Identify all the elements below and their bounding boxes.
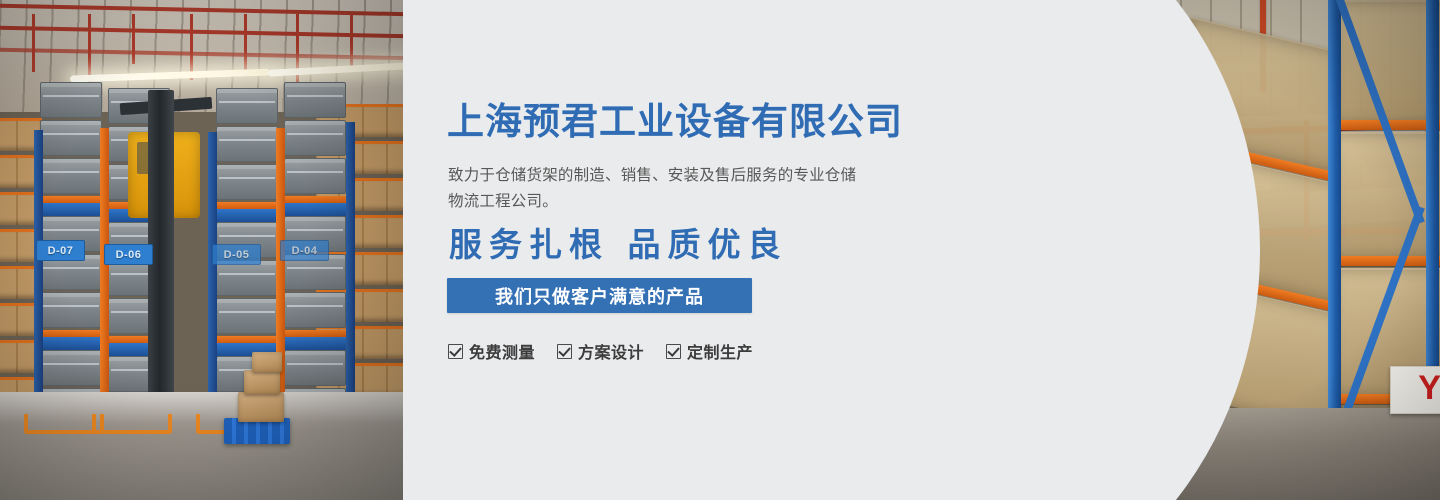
hero-banner: D-07 D-06 D-05 D-04 上海预君工业设备有限公司 致力于仓储货架… bbox=[0, 0, 1440, 500]
company-subtitle: 致力于仓储货架的制造、销售、安装及售后服务的专业仓储物流工程公司。 bbox=[448, 163, 866, 214]
cardboard-carton bbox=[252, 352, 282, 372]
ceiling-hanger bbox=[88, 14, 91, 84]
cta-button[interactable]: 我们只做客户满意的产品 bbox=[447, 278, 752, 313]
rack-label: D-04 bbox=[280, 240, 329, 261]
feature-label: 免费测量 bbox=[469, 339, 535, 363]
checkbox-checked-icon bbox=[448, 344, 463, 359]
ceiling-hanger bbox=[350, 14, 353, 68]
cardboard-carton bbox=[238, 392, 284, 422]
feature-item: 定制生产 bbox=[666, 339, 753, 363]
slogan: 服务扎根 品质优良 bbox=[449, 228, 788, 261]
feature-list: 免费测量 方案设计 定制生产 bbox=[448, 339, 753, 363]
rack-upright bbox=[208, 132, 217, 404]
feature-item: 方案设计 bbox=[557, 339, 644, 363]
rack-upright bbox=[346, 122, 355, 404]
rack-base-frame bbox=[92, 414, 172, 434]
feature-label: 方案设计 bbox=[578, 339, 644, 363]
ceiling-hanger bbox=[190, 14, 193, 80]
rack-label: D-06 bbox=[104, 244, 153, 265]
cardboard-carton bbox=[244, 370, 280, 394]
company-title: 上海预君工业设备有限公司 bbox=[447, 103, 903, 140]
rack-beam bbox=[1332, 256, 1440, 266]
banner-content: 上海预君工业设备有限公司 致力于仓储货架的制造、销售、安装及售后服务的专业仓储物… bbox=[447, 0, 917, 500]
ceiling-hanger bbox=[296, 14, 299, 86]
rack-upright bbox=[34, 130, 43, 404]
rack-label: D-05 bbox=[212, 244, 261, 265]
feature-item: 免费测量 bbox=[448, 339, 535, 363]
warehouse-floor bbox=[0, 392, 403, 500]
checkbox-checked-icon bbox=[666, 344, 681, 359]
decorative-arc-mask bbox=[940, 0, 1260, 500]
rack-label: D-07 bbox=[36, 240, 85, 261]
ceiling-hanger bbox=[244, 14, 247, 72]
wrapped-pallet bbox=[1332, 132, 1440, 258]
left-warehouse-photo: D-07 D-06 D-05 D-04 bbox=[0, 0, 403, 500]
right-warehouse-photo: foxconn foxconn foxconn foxconn bbox=[940, 0, 1440, 500]
checkbox-checked-icon bbox=[557, 344, 572, 359]
ceiling-hanger bbox=[132, 14, 135, 64]
feature-label: 定制生产 bbox=[687, 339, 753, 363]
bay-sign: Y3 bbox=[1390, 366, 1440, 414]
rack-upright bbox=[100, 128, 109, 404]
ceiling-hanger bbox=[32, 14, 35, 72]
